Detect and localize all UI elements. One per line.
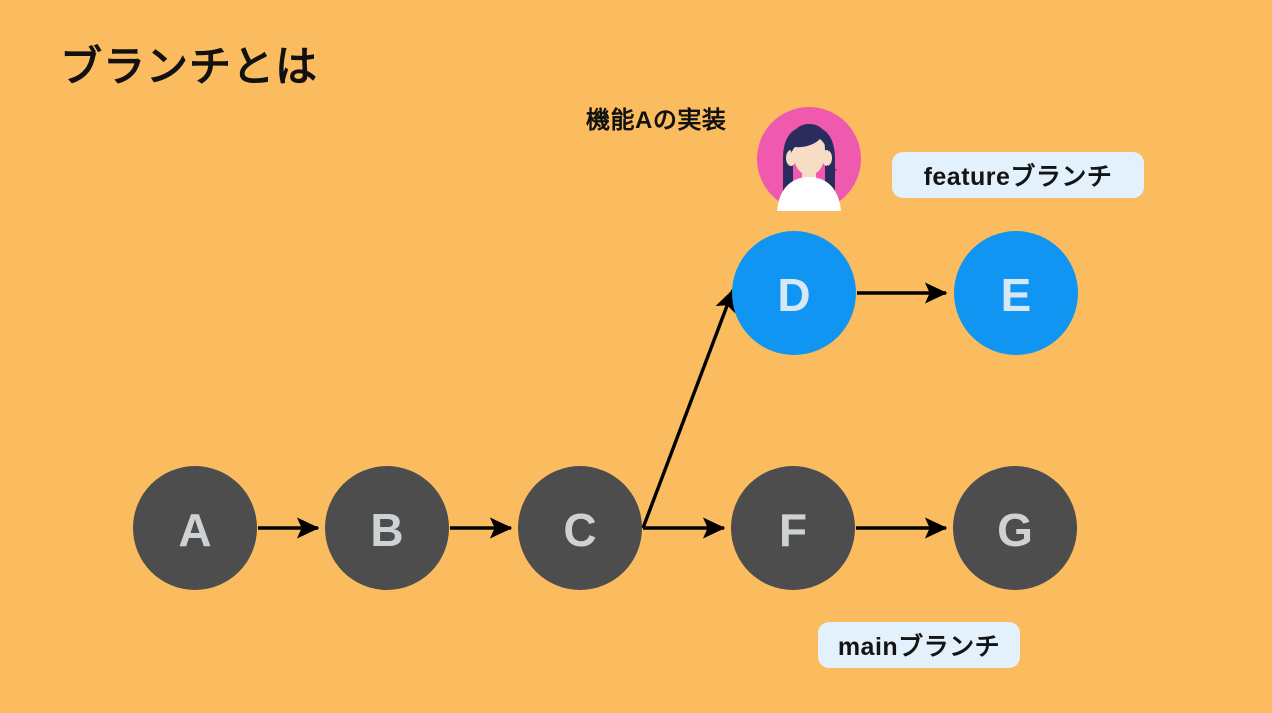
- badge-main-branch-label: mainブランチ: [838, 627, 1000, 663]
- commit-node-f[interactable]: F: [731, 466, 855, 590]
- commit-label-c: C: [563, 504, 596, 556]
- commit-node-a[interactable]: A: [133, 466, 257, 590]
- badge-main-branch[interactable]: mainブランチ: [818, 622, 1020, 668]
- commit-node-b[interactable]: B: [325, 466, 449, 590]
- developer-avatar: [757, 107, 861, 211]
- badge-feature-branch-label: featureブランチ: [924, 157, 1113, 193]
- commit-node-g[interactable]: G: [953, 466, 1077, 590]
- git-branch-diagram: A B C F G D E: [0, 0, 1272, 713]
- commit-label-e: E: [1001, 269, 1032, 321]
- commit-label-f: F: [779, 504, 807, 556]
- badge-feature-branch[interactable]: featureブランチ: [892, 152, 1144, 198]
- commit-label-d: D: [777, 269, 810, 321]
- commit-node-c[interactable]: C: [518, 466, 642, 590]
- commit-label-a: A: [178, 504, 211, 556]
- commit-label-g: G: [997, 504, 1033, 556]
- slide-canvas: ブランチとは 機能Aの実装 A B C: [0, 0, 1272, 713]
- edge-c-to-d: [643, 290, 733, 528]
- commit-node-d[interactable]: D: [732, 231, 856, 355]
- commit-node-e[interactable]: E: [954, 231, 1078, 355]
- commit-label-b: B: [370, 504, 403, 556]
